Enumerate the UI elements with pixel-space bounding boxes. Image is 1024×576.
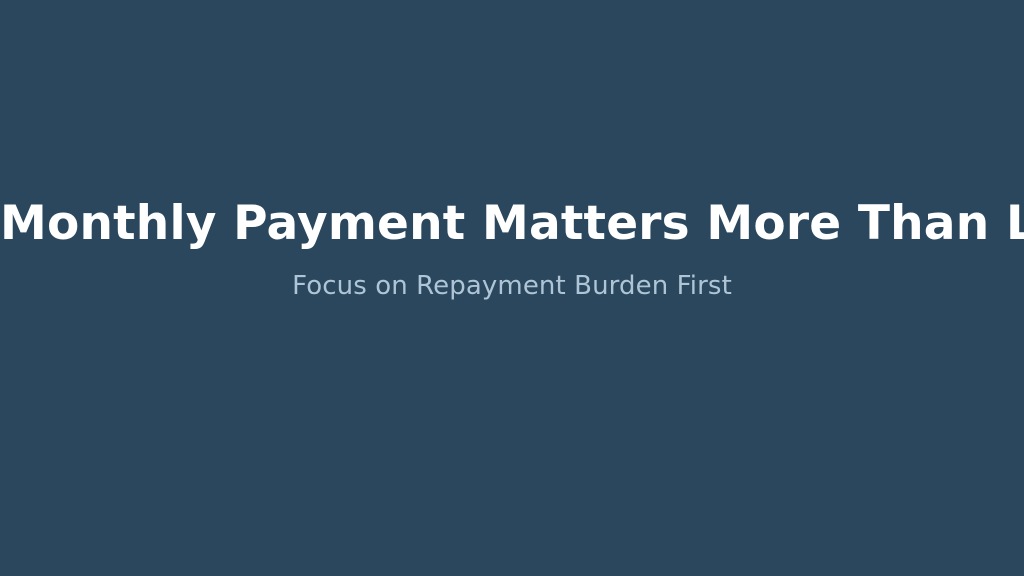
slide-canvas: Monthly Payment Matters More Than Limit … [0, 0, 1024, 576]
page-title: Monthly Payment Matters More Than Limit [0, 196, 1024, 252]
slide-subtitle: Focus on Repayment Burden First [0, 270, 1024, 302]
title-block: Monthly Payment Matters More Than Limit … [0, 196, 1024, 302]
